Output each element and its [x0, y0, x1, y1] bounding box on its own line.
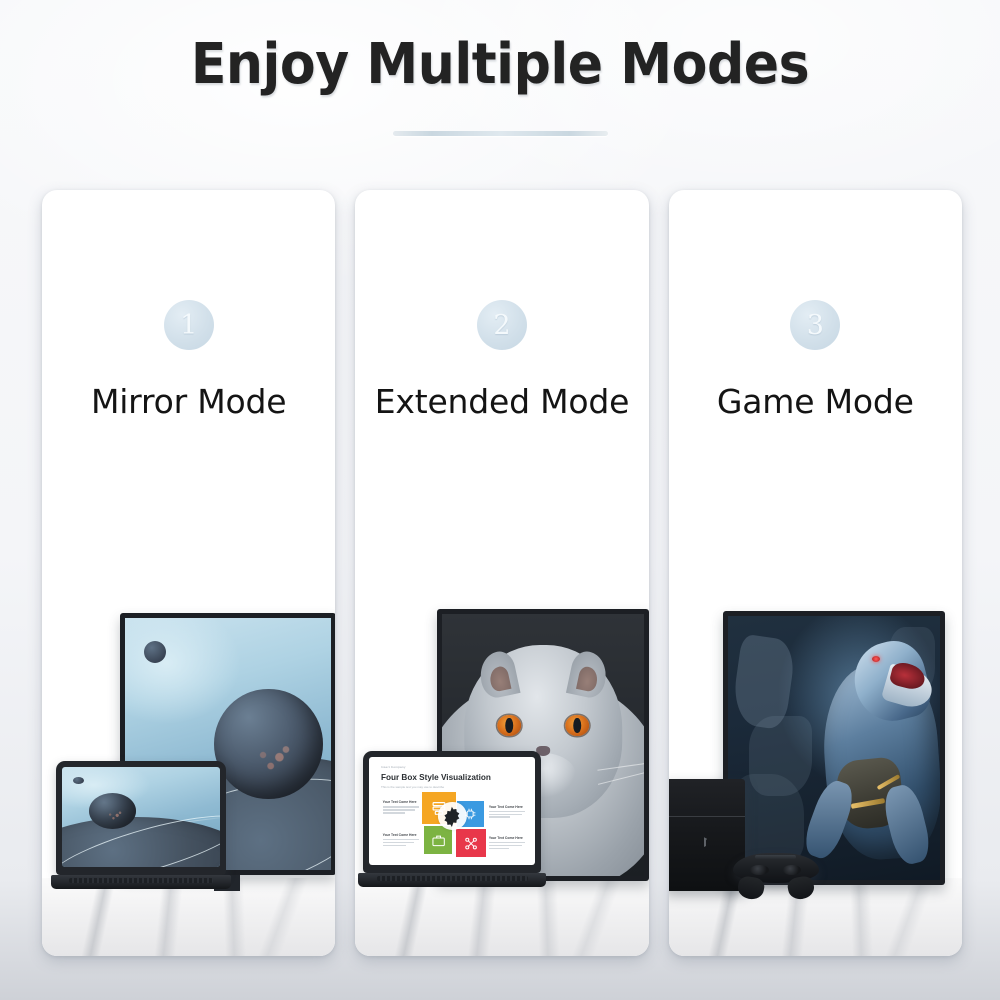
controller-lightbar — [755, 855, 796, 859]
mode-card-extended[interactable]: 2 Extended Mode — [355, 190, 648, 956]
playstation-logo-icon — [699, 832, 711, 852]
monitor-screen — [728, 616, 940, 880]
card-header-game: 3 Game Mode — [669, 190, 962, 490]
mode-heading-extended: Extended Mode — [355, 382, 648, 421]
game-controller — [733, 853, 819, 883]
slide-box-green — [424, 826, 452, 854]
mirror-mode-photo — [42, 601, 335, 956]
controller-stick-right — [783, 865, 802, 875]
game-console — [669, 779, 745, 891]
controller-stick-left — [750, 865, 769, 875]
card-header-mirror: 1 Mirror Mode — [42, 190, 335, 490]
cat-ear-left — [476, 649, 521, 701]
slide-label-2: Your Text Come Here — [489, 805, 526, 820]
laptop-device: Insert Company Four Box Style Visualizat… — [363, 751, 541, 887]
laptop-base — [51, 875, 231, 889]
presentation-slide: Insert Company Four Box Style Visualizat… — [369, 757, 535, 865]
step-badge-number: 1 — [180, 312, 197, 339]
game-scene — [728, 616, 940, 880]
laptop-screen: Insert Company Four Box Style Visualizat… — [369, 757, 535, 865]
card-header-extended: 2 Extended Mode — [355, 190, 648, 490]
header: Enjoy Multiple Modes — [0, 0, 1000, 170]
mode-heading-game: Game Mode — [669, 382, 962, 421]
cat-eye-right — [565, 715, 589, 737]
gear-icon — [438, 802, 466, 830]
step-badge-1: 1 — [164, 300, 214, 350]
laptop-base — [358, 873, 546, 887]
step-badge-3: 3 — [790, 300, 840, 350]
mode-card-list: 1 Mirror Mode — [42, 190, 962, 956]
space-wallpaper-mirrored — [62, 767, 220, 867]
cat-eye-left — [498, 715, 522, 737]
slide-label-1: Your Text Come Here — [383, 800, 420, 815]
title-divider — [393, 131, 608, 136]
monitor-device — [723, 611, 945, 885]
laptop-lid — [56, 761, 226, 875]
step-badge-number: 3 — [807, 312, 824, 339]
mode-card-mirror[interactable]: 1 Mirror Mode — [42, 190, 335, 956]
extended-mode-photo: Insert Company Four Box Style Visualizat… — [355, 601, 648, 956]
slide-label-4: Your Text Come Here — [489, 836, 526, 851]
laptop-screen — [62, 767, 220, 867]
slide-box-red — [456, 829, 486, 857]
mode-card-game[interactable]: 3 Game Mode — [669, 190, 962, 956]
step-badge-2: 2 — [477, 300, 527, 350]
marble-desk-surface — [42, 878, 335, 956]
slide-label-3: Your Text Come Here — [383, 833, 420, 848]
slide-subtitle: This is the sample text you may use to d… — [381, 785, 444, 789]
marble-desk-surface — [355, 878, 648, 956]
mode-heading-mirror: Mirror Mode — [42, 382, 335, 421]
laptop-lid: Insert Company Four Box Style Visualizat… — [363, 751, 541, 873]
game-mode-photo — [669, 601, 962, 956]
laptop-device — [56, 761, 226, 889]
werewolf-eye — [872, 656, 880, 662]
step-badge-number: 2 — [493, 312, 510, 339]
cat-ear-right — [566, 649, 611, 701]
slide-title: Four Box Style Visualization — [381, 773, 491, 782]
page-title: Enjoy Multiple Modes — [35, 32, 965, 97]
slide-eyebrow: Insert Company — [381, 765, 406, 769]
